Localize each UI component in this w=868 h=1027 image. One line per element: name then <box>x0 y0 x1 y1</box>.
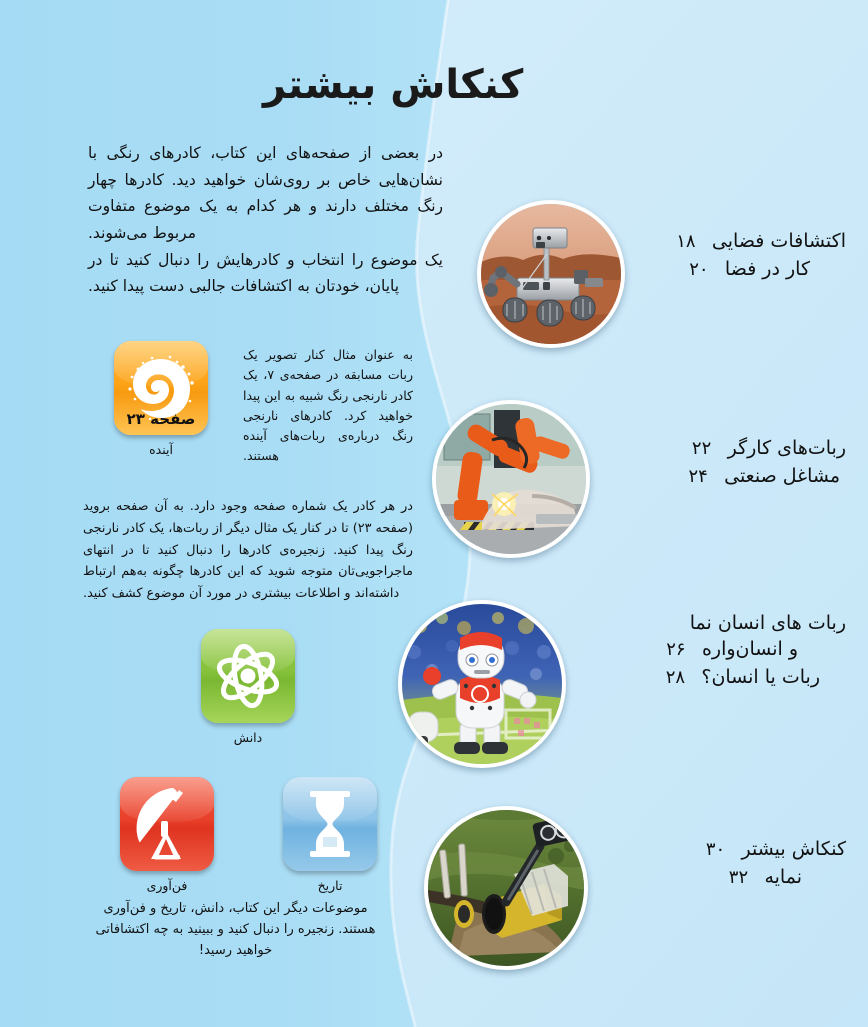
welding-robots-image <box>436 404 586 554</box>
other-topics-text: موضوعات دیگر این کتاب، دانش، تاریخ و فن‌… <box>93 898 378 961</box>
category-future-label: آینده <box>106 442 216 457</box>
intro-paragraph: در بعضی از صفحه‌های این کتاب، کادرهای رن… <box>88 140 443 300</box>
category-technology[interactable]: فن‌آوری <box>112 777 222 893</box>
toc-page-number: ۲۲ <box>676 438 728 459</box>
toc-page-number: ۱۸ <box>660 231 712 252</box>
chain-instructions-text: در هر کادر یک شماره صفحه وجود دارد. به آ… <box>83 496 413 605</box>
category-history[interactable]: تاریخ <box>275 777 385 893</box>
orange-box-note: به عنوان مثال کنار تصویر یک ربات مسابقه … <box>243 345 413 467</box>
toc-row[interactable]: کار در فضا ۲۰ <box>616 258 846 280</box>
book-page: کنکاش بیشتر در بعضی از صفحه‌های این کتاب… <box>0 0 868 1027</box>
science-tile[interactable] <box>201 629 295 723</box>
toc-page-number: ۲۸ <box>649 667 701 688</box>
mars-rover-image <box>481 204 621 344</box>
toc-label: کار در فضا <box>725 258 810 280</box>
toc-heading: ربات های انسان نما <box>581 612 846 634</box>
category-science-label: دانش <box>193 730 303 745</box>
toc-label: کنکاش بیشتر <box>742 838 846 860</box>
chain-instructions-note: در هر کادر یک شماره صفحه وجود دارد. به آ… <box>83 496 413 605</box>
toc-page-number: ۲۰ <box>673 259 725 280</box>
field-robot-image <box>428 810 584 966</box>
technology-tile[interactable] <box>120 777 214 871</box>
toc-group-humanoid: ربات های انسان نما و انسان‌واره ۲۶ ربات … <box>581 612 846 694</box>
toc-row[interactable]: نمایه ۳۲ <box>596 866 846 888</box>
toc-label: اکتشافات فضایی <box>712 230 846 252</box>
atom-icon <box>201 629 295 723</box>
toc-group-workers: ربات‌های کارگر ۲۲ مشاغل صنعتی ۲۴ <box>596 437 846 493</box>
toc-row[interactable]: کنکاش بیشتر ۳۰ <box>596 838 846 860</box>
industrial-welding-robot-photo <box>432 400 590 558</box>
category-technology-label: فن‌آوری <box>112 878 222 893</box>
intro-line-1: در بعضی از صفحه‌های این کتاب، کادرهای رن… <box>88 140 443 247</box>
toc-label: ربات‌های کارگر <box>728 437 846 459</box>
field-excavation-robot-photo <box>424 806 588 970</box>
history-tile[interactable] <box>283 777 377 871</box>
toc-heading-label: ربات های انسان نما <box>690 612 846 634</box>
satellite-dish-icon <box>120 777 214 871</box>
toc-row[interactable]: و انسان‌واره ۲۶ <box>581 638 846 660</box>
toc-row[interactable]: ربات یا انسان؟ ۲۸ <box>581 666 846 688</box>
toc-row[interactable]: مشاغل صنعتی ۲۴ <box>596 465 846 487</box>
toc-label: و انسان‌واره <box>702 638 798 660</box>
other-topics-note: موضوعات دیگر این کتاب، دانش، تاریخ و فن‌… <box>93 898 378 961</box>
orange-box-note-text: به عنوان مثال کنار تصویر یک ربات مسابقه … <box>243 345 413 467</box>
future-page-badge: صفحه ۲۳ <box>114 410 208 428</box>
toc-group-explore: کنکاش بیشتر ۳۰ نمایه ۳۲ <box>596 838 846 894</box>
toc-group-space: اکتشافات فضایی ۱۸ کار در فضا ۲۰ <box>616 230 846 286</box>
hourglass-icon <box>283 777 377 871</box>
mars-rover-photo <box>477 200 625 348</box>
toc-row[interactable]: ربات‌های کارگر ۲۲ <box>596 437 846 459</box>
toc-label: مشاغل صنعتی <box>724 465 840 487</box>
page-title: کنکاش بیشتر <box>263 62 663 108</box>
toc-page-number: ۳۲ <box>712 867 764 888</box>
toc-page-number: ۲۶ <box>650 639 702 660</box>
category-history-label: تاریخ <box>275 878 385 893</box>
category-science[interactable]: دانش <box>193 629 303 745</box>
toc-row[interactable]: اکتشافات فضایی ۱۸ <box>616 230 846 252</box>
humanoid-robot-image <box>402 604 562 764</box>
toc-label: ربات یا انسان؟ <box>701 666 820 688</box>
future-tile[interactable]: صفحه ۲۳ <box>114 341 208 435</box>
toc-page-number: ۲۴ <box>672 466 724 487</box>
toc-page-number: ۳۰ <box>690 839 742 860</box>
category-future[interactable]: صفحه ۲۳ آینده <box>106 341 216 457</box>
intro-line-2: یک موضوع را انتخاب و کادرهایش را دنبال ک… <box>88 247 443 300</box>
toc-label: نمایه <box>764 866 802 888</box>
humanoid-nao-robot-photo <box>398 600 566 768</box>
